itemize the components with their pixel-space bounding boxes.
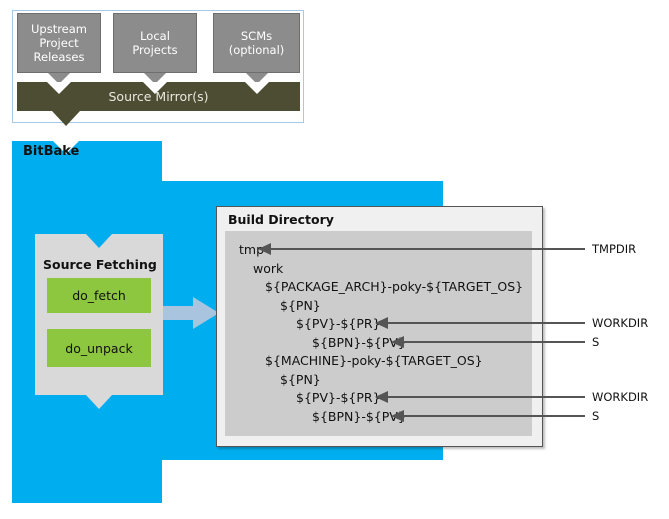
- source-fetching-title: Source Fetching: [43, 257, 157, 272]
- task-box-do-unpack[interactable]: do_unpack: [47, 329, 151, 367]
- annotation-line: [270, 248, 585, 250]
- build-directory-title: Build Directory: [228, 212, 334, 227]
- tree-row: ${MACHINE}-poky-${TARGET_OS}: [265, 353, 483, 368]
- fetch-to-builddir-arrow-icon: [163, 297, 219, 329]
- annotation-arrow-icon: [375, 317, 388, 329]
- annotation-line: [387, 322, 585, 324]
- task-label: do_fetch: [72, 288, 126, 303]
- tree-row: work: [253, 261, 283, 276]
- tree-row: ${PN}: [280, 372, 321, 387]
- yocto-source-fetching-diagram: Upstream Project Releases Local Projects…: [0, 0, 669, 519]
- task-box-do-fetch[interactable]: do_fetch: [47, 278, 151, 313]
- bitbake-label: BitBake: [23, 144, 79, 159]
- source-box-label: Upstream Project Releases: [31, 22, 87, 64]
- source-fetching-bottom-notch-icon: [86, 395, 112, 409]
- source-box-label: SCMs (optional): [229, 29, 285, 57]
- source-box-scms-optional: SCMs (optional): [213, 13, 300, 73]
- mirror-to-bitbake-arrow-icon: [52, 111, 80, 126]
- tree-row: ${PN}: [280, 298, 321, 313]
- annotation-label: WORKDIR: [592, 390, 648, 404]
- annotation-label: WORKDIR: [592, 316, 648, 330]
- source-fetching-top-notch-icon: [86, 234, 112, 248]
- tree-row: ${PV}-${PR}: [296, 390, 381, 405]
- mirror-notch-icon-2: [143, 82, 167, 94]
- annotation-arrow-icon: [391, 410, 404, 422]
- annotation-label: S: [592, 335, 599, 349]
- mirror-notch-icon-3: [245, 82, 269, 94]
- source-box-local-projects: Local Projects: [113, 13, 197, 73]
- source-box-label: Local Projects: [132, 29, 177, 57]
- annotation-arrow-icon: [258, 243, 271, 255]
- tree-row: ${PV}-${PR}: [296, 316, 381, 331]
- annotation-arrow-icon: [391, 336, 404, 348]
- annotation-arrow-icon: [375, 391, 388, 403]
- annotation-line: [387, 396, 585, 398]
- task-label: do_unpack: [65, 341, 132, 356]
- annotation-label: TMPDIR: [592, 242, 636, 256]
- source-box-upstream-project-releases: Upstream Project Releases: [17, 13, 101, 73]
- annotation-label: S: [592, 409, 599, 423]
- mirror-notch-icon-1: [47, 82, 71, 94]
- annotation-line: [403, 415, 585, 417]
- annotation-line: [403, 341, 585, 343]
- tree-row: ${PACKAGE_ARCH}-poky-${TARGET_OS}: [265, 279, 523, 294]
